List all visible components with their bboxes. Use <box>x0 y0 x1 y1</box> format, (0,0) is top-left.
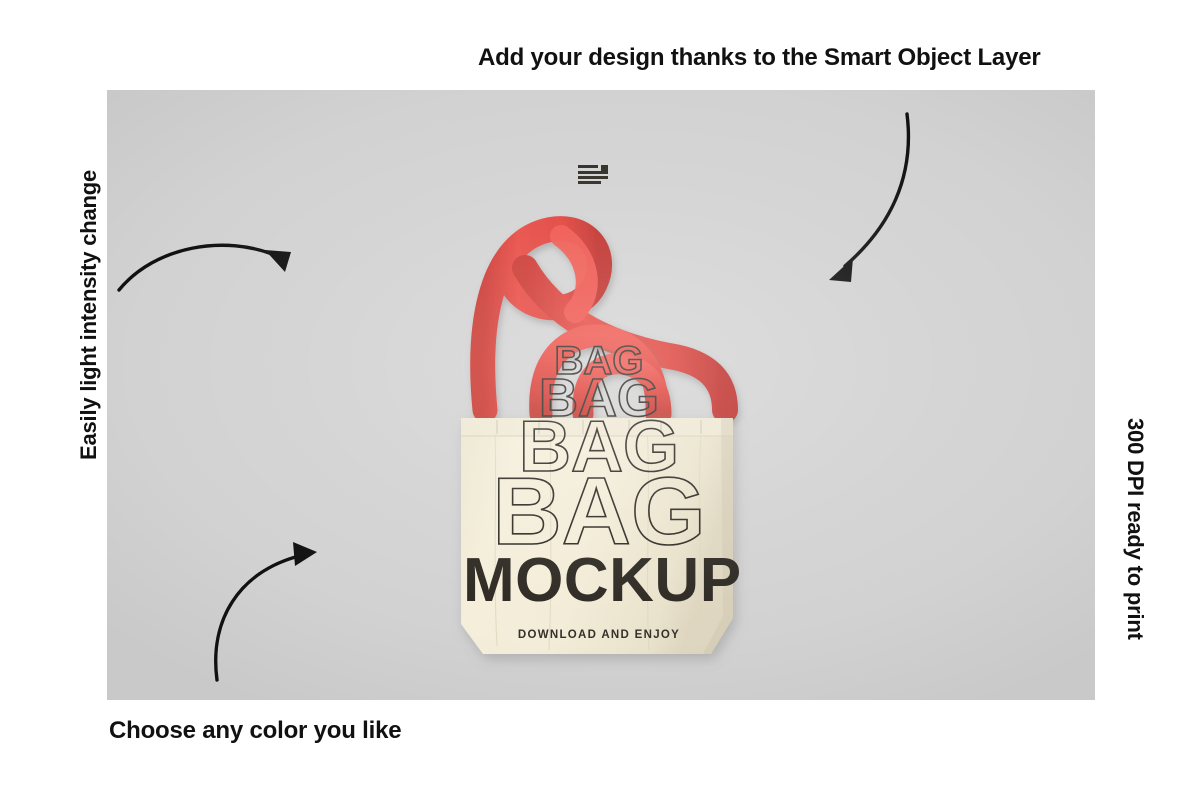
caption-light-intensity: Easily light intensity change <box>76 170 102 460</box>
caption-smart-object-layer: Add your design thanks to the Smart Obje… <box>478 44 1041 72</box>
caption-choose-color: Choose any color you like <box>109 717 401 745</box>
tote-bag-graphic <box>433 118 763 678</box>
mockup-scene: BAG BAG BAG BAG MOCKUP DOWNLOAD AND ENJO… <box>107 90 1095 700</box>
arrow-bottom-icon <box>195 534 335 684</box>
bag-body <box>461 418 733 654</box>
bag-logo-icon <box>578 165 608 184</box>
front-handles <box>541 336 661 414</box>
tote-bag: BAG BAG BAG BAG MOCKUP DOWNLOAD AND ENJO… <box>433 118 763 678</box>
shoulder-strap <box>483 229 725 410</box>
caption-300-dpi: 300 DPI ready to print <box>1122 418 1148 640</box>
arrow-right-icon <box>819 108 929 298</box>
arrow-left-icon <box>115 228 305 298</box>
